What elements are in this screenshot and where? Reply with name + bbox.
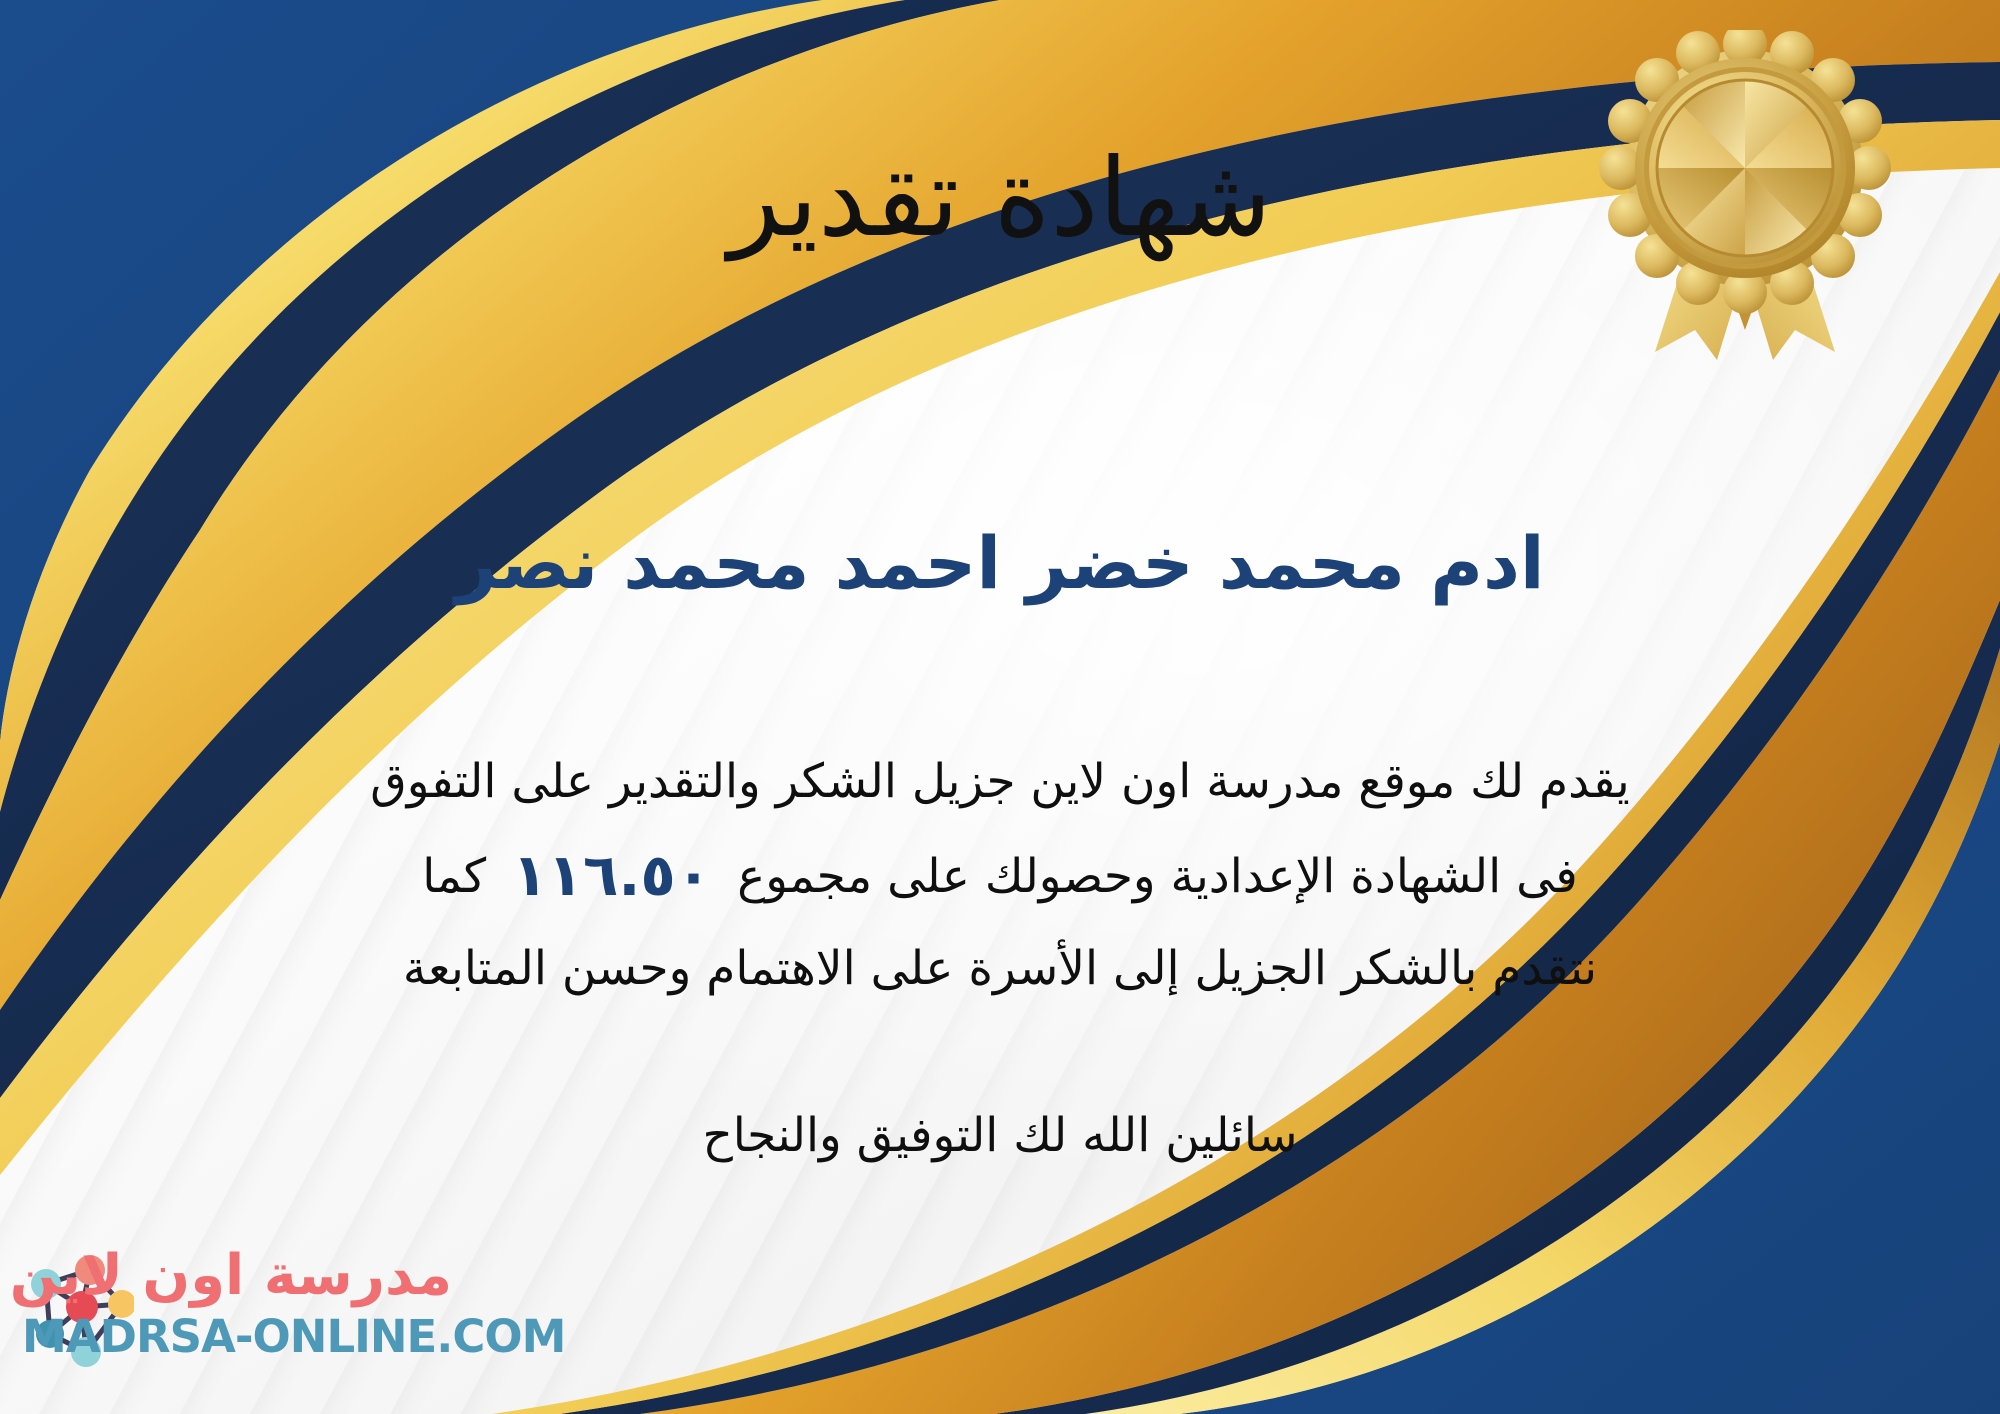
certificate-body-text: يقدم لك موقع مدرسة اون لاين جزيل الشكر و…: [90, 740, 1910, 1011]
certificate-content: شهادة تقدير ادم محمد خضر احمد محمد نصر ي…: [0, 0, 2000, 1414]
score-value: ١١٦.٥٠: [486, 824, 737, 927]
page-title: شهادة تقدير: [0, 140, 2000, 259]
body-line-2-text-before-score: فى الشهادة الإعدادية وحصولك على مجموع: [737, 849, 1578, 904]
body-line-3: نتقدم بالشكر الجزيل إلى الأسرة على الاهت…: [90, 927, 1910, 1011]
logo-arabic-name: مدرسة اون لاين: [22, 1248, 452, 1304]
recipient-name: ادم محمد خضر احمد محمد نصر: [0, 522, 2000, 605]
logo-website-url: MADRSA-ONLINE.COM: [22, 1312, 452, 1362]
body-line-2: نتقدم بالشكر الجزيل إلى الأسرة على الاهت…: [90, 824, 1910, 927]
site-logo[interactable]: مدرسة اون لاين MADRSA-ONLINE.COM: [22, 1242, 542, 1392]
closing-wish: سائلين الله لك التوفيق والنجاح: [0, 1108, 2000, 1163]
body-line-1: يقدم لك موقع مدرسة اون لاين جزيل الشكر و…: [90, 740, 1910, 824]
certificate-page: شهادة تقدير ادم محمد خضر احمد محمد نصر ي…: [0, 0, 2000, 1414]
body-line-2-text-after-score: كما: [422, 849, 486, 904]
logo-text-block: مدرسة اون لاين MADRSA-ONLINE.COM: [22, 1248, 452, 1362]
